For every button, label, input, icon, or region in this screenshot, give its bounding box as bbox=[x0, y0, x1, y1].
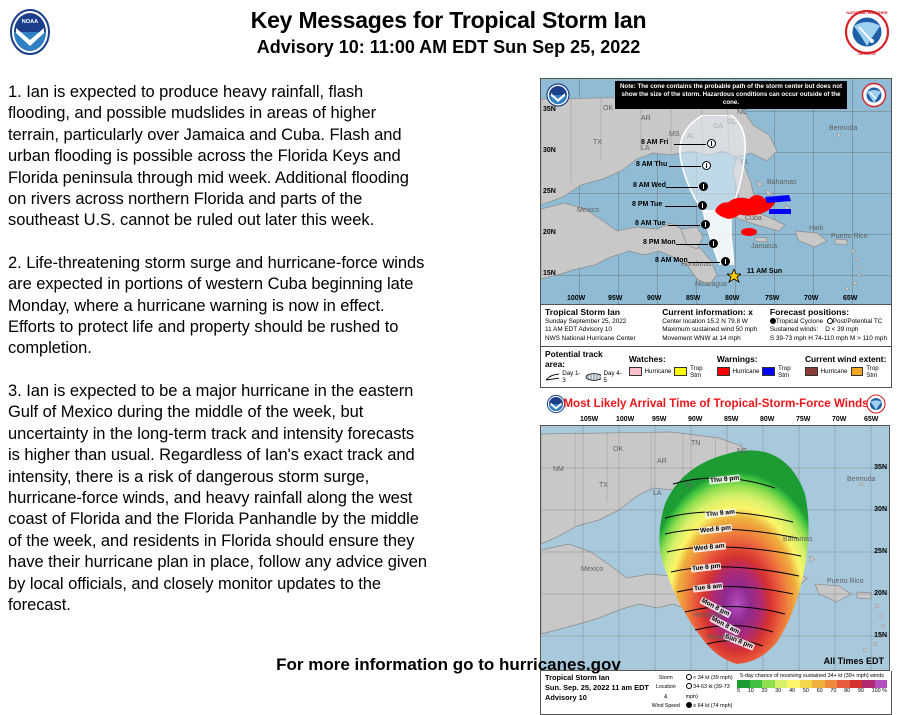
lon-label-80w: 80W bbox=[725, 295, 739, 302]
footer-text: For more information go to hurricanes.go… bbox=[0, 655, 897, 675]
arrival-header: Most Likely Arrival Time of Tropical-Sto… bbox=[540, 393, 892, 415]
leader-8am-fri bbox=[674, 144, 706, 145]
storm-symbol-icon bbox=[686, 683, 692, 689]
lat-label-20n: 20N bbox=[543, 229, 556, 236]
arrival-lon-105w: 105W bbox=[580, 416, 598, 423]
forecast-cone-map[interactable]: OK AR TX LA MS AL GA NC SC FL Mexico Cub… bbox=[541, 79, 891, 304]
arrival-region-bahamas: Bahamas bbox=[783, 536, 813, 543]
colorbar-tick-100: 100 % bbox=[872, 688, 887, 694]
arrival-legend-storm-info: Tropical Storm Ian Sun. Sep. 25, 2022 11… bbox=[545, 673, 649, 712]
symbol-row-ts: 34-63 kt (39-73 mph) bbox=[686, 683, 737, 702]
colorbar-seg-10 bbox=[850, 680, 863, 688]
track-label-8am-mon: 8 AM Mon bbox=[655, 257, 688, 264]
legend-watches: Watches: Hurricane Trop Stm bbox=[629, 354, 711, 379]
colorbar-seg-11 bbox=[862, 680, 875, 688]
arrival-region-bermuda: Bermuda bbox=[847, 476, 875, 483]
svg-text:NATIONAL WEATHER: NATIONAL WEATHER bbox=[846, 10, 887, 15]
warning-tropstm-label: Trop Stm bbox=[778, 365, 799, 379]
legend-storm-name: Tropical Storm Ian bbox=[545, 307, 662, 317]
leader-8am-wed bbox=[666, 187, 698, 188]
colorbar-tick-60: 60 bbox=[817, 688, 823, 694]
colorbar-swatches bbox=[737, 680, 887, 688]
legend-storm-advisory: 11 AM EDT Advisory 10 bbox=[545, 326, 662, 334]
legend-cyclone-label: Tropical Cyclone bbox=[776, 318, 823, 325]
legend-movement: Movement WNW at 14 mph bbox=[662, 335, 770, 343]
colorbar-seg-3 bbox=[762, 680, 775, 688]
legend-center-location: Center location 15.2 N 79.8 W bbox=[662, 318, 770, 326]
track-point-8am-wed[interactable] bbox=[699, 182, 708, 191]
page-header: NOAA Key Messages for Tropical Storm Ian… bbox=[0, 0, 897, 72]
warning-tropstm-swatch bbox=[762, 367, 775, 376]
ampersand-label: & bbox=[649, 693, 683, 703]
legend-storm-info: Tropical Storm Ian Sunday September 25, … bbox=[545, 307, 662, 343]
legend-watches-title: Watches: bbox=[629, 354, 711, 364]
lon-label-90w: 90W bbox=[647, 295, 661, 302]
colorbar-seg-6 bbox=[800, 680, 813, 688]
legend-storm-date: Sunday September 25, 2022 bbox=[545, 318, 662, 326]
svg-text:SERVICE: SERVICE bbox=[858, 51, 876, 56]
arrival-lat-20n: 20N bbox=[874, 590, 887, 597]
watch-tropstm-swatch bbox=[674, 367, 687, 376]
storm-location-label: Storm Location bbox=[649, 674, 683, 693]
arrival-lon-95w: 95W bbox=[652, 416, 666, 423]
legend-current-info: Current information: x Center location 1… bbox=[662, 307, 770, 343]
current-marker-icon: x bbox=[748, 307, 753, 317]
symbol-row-td: < 34 kt (39 mph) bbox=[686, 674, 737, 684]
lon-label-65w: 65W bbox=[843, 295, 857, 302]
track-point-8pm-tue[interactable] bbox=[698, 201, 707, 210]
nws-logo: NATIONAL WEATHER SERVICE bbox=[841, 6, 893, 58]
track-label-8pm-mon: 8 PM Mon bbox=[643, 239, 676, 246]
arrival-region-tn: TN bbox=[691, 440, 700, 447]
legend-current-title-text: Current information: bbox=[662, 307, 746, 317]
colorbar-tick-10: 10 bbox=[748, 688, 754, 694]
colorbar-tick-40: 40 bbox=[789, 688, 795, 694]
colorbar-seg-2 bbox=[750, 680, 763, 688]
legend-warnings: Warnings: Hurricane Trop Stm bbox=[717, 354, 799, 379]
arrival-lon-axis: 105W 100W 95W 90W 85W 80W 75W 70W 65W bbox=[540, 415, 892, 425]
legend-potential-track: Potential track area: Day 1-3 Day 4-5 bbox=[545, 349, 623, 384]
track-label-8am-wed: 8 AM Wed bbox=[633, 182, 666, 189]
arrival-region-honduras: Honduras bbox=[693, 612, 723, 619]
colorbar-seg-4 bbox=[775, 680, 788, 688]
leader-8pm-mon bbox=[676, 244, 708, 245]
colorbar-seg-12 bbox=[875, 680, 888, 688]
colorbar-tick-labels: 5 10 20 30 40 50 60 70 80 90 100 % bbox=[737, 688, 887, 694]
key-message-1: 1. Ian is expected to produce heavy rain… bbox=[8, 82, 428, 232]
arrival-legend-colorbar: 5-day chance of receiving sustained 34+ … bbox=[737, 673, 887, 712]
legend-d-label: D < 39 mph bbox=[825, 326, 858, 333]
legend-forecast-symbols: Tropical Cyclone Post/Potential TC bbox=[770, 318, 887, 326]
cone-legend: Tropical Storm Ian Sunday September 25, … bbox=[541, 304, 891, 387]
lat-label-30n: 30N bbox=[543, 147, 556, 154]
title-block: Key Messages for Tropical Storm Ian Advi… bbox=[0, 6, 897, 59]
arrival-map-title: Most Likely Arrival Time of Tropical-Sto… bbox=[540, 397, 892, 410]
legend-storm-agency: NWS National Hurricane Center bbox=[545, 335, 662, 343]
current-wind-extent bbox=[541, 79, 891, 304]
wind-extent-hurricane-swatch bbox=[805, 367, 818, 376]
legend-wind-extent-title: Current wind extent: bbox=[805, 354, 887, 364]
legend-sustained-label: Sustained winds: bbox=[770, 326, 818, 333]
arrival-legend: Tropical Storm Ian Sun. Sep. 25, 2022 11… bbox=[540, 671, 892, 715]
symbol-row-hu: ≥ 64 kt (74 mph) bbox=[686, 702, 737, 712]
nws-logo-arrival-map bbox=[866, 394, 886, 414]
lat-label-35n: 35N bbox=[543, 106, 556, 113]
colorbar-tick-80: 80 bbox=[844, 688, 850, 694]
arrival-lon-85w: 85W bbox=[724, 416, 738, 423]
track-label-8am-thu: 8 AM Thu bbox=[636, 161, 667, 168]
day4-5-cone-icon bbox=[585, 373, 601, 381]
arrival-lon-90w: 90W bbox=[688, 416, 702, 423]
wind-extent-tropstm-swatch bbox=[851, 367, 864, 376]
arrival-legend-symbol-items: < 34 kt (39 mph) 34-63 kt (39-73 mph) ≥ … bbox=[686, 673, 737, 712]
legend-max-wind: Maximum sustained wind 50 mph bbox=[662, 326, 770, 334]
leader-8am-mon bbox=[688, 262, 720, 263]
wind-extent-hurricane-label: Hurricane bbox=[821, 368, 848, 375]
arrival-lat-15n: 15N bbox=[874, 632, 887, 639]
hurricane-symbol-icon bbox=[686, 702, 692, 708]
warning-hurricane-swatch bbox=[717, 367, 730, 376]
legend-forecast-positions: Forecast positions: Tropical Cyclone Pos… bbox=[770, 307, 887, 343]
colorbar-tick-20: 20 bbox=[762, 688, 768, 694]
colorbar-tick-30: 30 bbox=[775, 688, 781, 694]
leader-8am-thu bbox=[669, 166, 701, 167]
arrival-region-mexico: Mexico bbox=[581, 566, 603, 573]
arrival-legend-datetime: Sun. Sep. 25, 2022 11 am EDT bbox=[545, 683, 649, 693]
page-title: Key Messages for Tropical Storm Ian bbox=[0, 6, 897, 34]
symbol-ts-label: 34-63 kt (39-73 mph) bbox=[686, 684, 730, 700]
arrival-region-al: AL bbox=[685, 482, 694, 489]
track-point-8pm-mon[interactable] bbox=[709, 239, 718, 248]
arrival-region-ar: AR bbox=[657, 458, 667, 465]
colorbar-tick-5: 5 bbox=[737, 688, 740, 694]
advisory-subtitle: Advisory 10: 11:00 AM EDT Sun Sep 25, 20… bbox=[0, 35, 897, 59]
lon-label-100w: 100W bbox=[567, 295, 585, 302]
lat-label-15n: 15N bbox=[543, 270, 556, 277]
arrival-lat-25n: 25N bbox=[874, 548, 887, 555]
arrival-legend-advisory: Advisory 10 bbox=[545, 693, 649, 703]
watch-hurricane-swatch bbox=[629, 367, 642, 376]
arrival-region-nc: NC bbox=[737, 448, 747, 455]
watch-tropstm-label: Trop Stm bbox=[690, 365, 711, 379]
track-label-8am-fri: 8 AM Fri bbox=[641, 139, 668, 146]
leader-8pm-tue bbox=[665, 206, 697, 207]
day1-3-cone-icon bbox=[545, 373, 559, 381]
arrival-legend-symbol-key: Storm Location & Wind Speed < 34 kt (39 … bbox=[649, 673, 737, 712]
colorbar-seg-1 bbox=[737, 680, 750, 688]
wind-extent-tropstm-label: Trop Stm bbox=[866, 365, 887, 379]
colorbar-tick-50: 50 bbox=[803, 688, 809, 694]
watch-hurricane-label: Hurricane bbox=[645, 368, 672, 375]
forecast-cone-panel: OK AR TX LA MS AL GA NC SC FL Mexico Cub… bbox=[540, 78, 892, 388]
arrival-legend-symbol-titles: Storm Location & Wind Speed bbox=[649, 673, 683, 712]
cone-note-text: Note: The cone contains the probable pat… bbox=[615, 81, 847, 109]
track-point-8am-thu[interactable] bbox=[702, 161, 711, 170]
current-position-marker[interactable] bbox=[727, 269, 741, 283]
track-label-8am-tue: 8 AM Tue bbox=[635, 220, 665, 227]
legend-post-label: Post/Potential TC bbox=[833, 318, 883, 325]
track-point-8am-fri[interactable] bbox=[707, 139, 716, 148]
legend-current-title: Current information: x bbox=[662, 307, 770, 317]
symbol-td-label: < 34 kt (39 mph) bbox=[693, 675, 732, 681]
legend-sustained-row: Sustained winds: D < 39 mph bbox=[770, 326, 887, 334]
lat-label-25n: 25N bbox=[543, 188, 556, 195]
arrival-region-puerto-rico: Puerto Rico bbox=[827, 578, 864, 585]
arrival-region-la: LA bbox=[653, 490, 662, 497]
colorbar-tick-70: 70 bbox=[830, 688, 836, 694]
legend-wind-extent: Current wind extent: Hurricane Trop Stm bbox=[805, 354, 887, 379]
track-point-8am-tue[interactable] bbox=[701, 220, 710, 229]
arrival-lat-35n: 35N bbox=[874, 464, 887, 471]
nws-logo-cone-map bbox=[861, 82, 887, 108]
legend-warnings-title: Warnings: bbox=[717, 354, 799, 364]
arrival-lon-65w: 65W bbox=[864, 416, 878, 423]
lon-label-75w: 75W bbox=[765, 295, 779, 302]
graphics-column: OK AR TX LA MS AL GA NC SC FL Mexico Cub… bbox=[540, 78, 892, 715]
key-message-2: 2. Life-threatening storm surge and hurr… bbox=[8, 253, 428, 360]
colorbar-seg-7 bbox=[812, 680, 825, 688]
lon-label-85w: 85W bbox=[686, 295, 700, 302]
arrival-lon-80w: 80W bbox=[760, 416, 774, 423]
arrival-region-ok: OK bbox=[613, 446, 623, 453]
colorbar-tick-90: 90 bbox=[858, 688, 864, 694]
track-label-11am-sun: 11 AM Sun bbox=[747, 268, 782, 275]
arrival-region-nicaragua: Nicaragua bbox=[707, 634, 739, 641]
lon-label-95w: 95W bbox=[608, 295, 622, 302]
warning-hurricane-label: Hurricane bbox=[733, 368, 760, 375]
colorbar-seg-5 bbox=[787, 680, 800, 688]
arrival-lon-70w: 70W bbox=[832, 416, 846, 423]
arrival-lon-75w: 75W bbox=[796, 416, 810, 423]
legend-forecast-title: Forecast positions: bbox=[770, 307, 887, 317]
legend-day1-3-label: Day 1-3 bbox=[562, 370, 581, 384]
noaa-logo-cone-map bbox=[545, 82, 571, 108]
track-point-8am-mon[interactable] bbox=[721, 257, 730, 266]
symbol-hu-label: ≥ 64 kt (74 mph) bbox=[693, 703, 732, 709]
arrival-region-nm: NM bbox=[553, 466, 564, 473]
arrival-time-map[interactable]: Thu 8 pm Thu 8 am Wed 8 pm Wed 8 am Tue … bbox=[540, 425, 890, 671]
legend-scale-line: S 39-73 mph H 74-110 mph M > 110 mph bbox=[770, 335, 887, 343]
key-message-3: 3. Ian is expected to be a major hurrica… bbox=[8, 381, 428, 616]
track-label-8pm-tue: 8 PM Tue bbox=[632, 201, 662, 208]
colorbar-seg-8 bbox=[825, 680, 838, 688]
key-messages-list: 1. Ian is expected to produce heavy rain… bbox=[8, 82, 428, 637]
lon-label-70w: 70W bbox=[804, 295, 818, 302]
legend-day4-5-label: Day 4-5 bbox=[604, 370, 623, 384]
legend-potential-track-title: Potential track area: bbox=[545, 349, 623, 369]
arrival-lon-100w: 100W bbox=[616, 416, 634, 423]
arrival-lat-30n: 30N bbox=[874, 506, 887, 513]
colorbar-seg-9 bbox=[837, 680, 850, 688]
wind-speed-label: Wind Speed bbox=[649, 702, 683, 712]
arrival-region-tx: TX bbox=[599, 482, 608, 489]
leader-8am-tue bbox=[668, 225, 700, 226]
